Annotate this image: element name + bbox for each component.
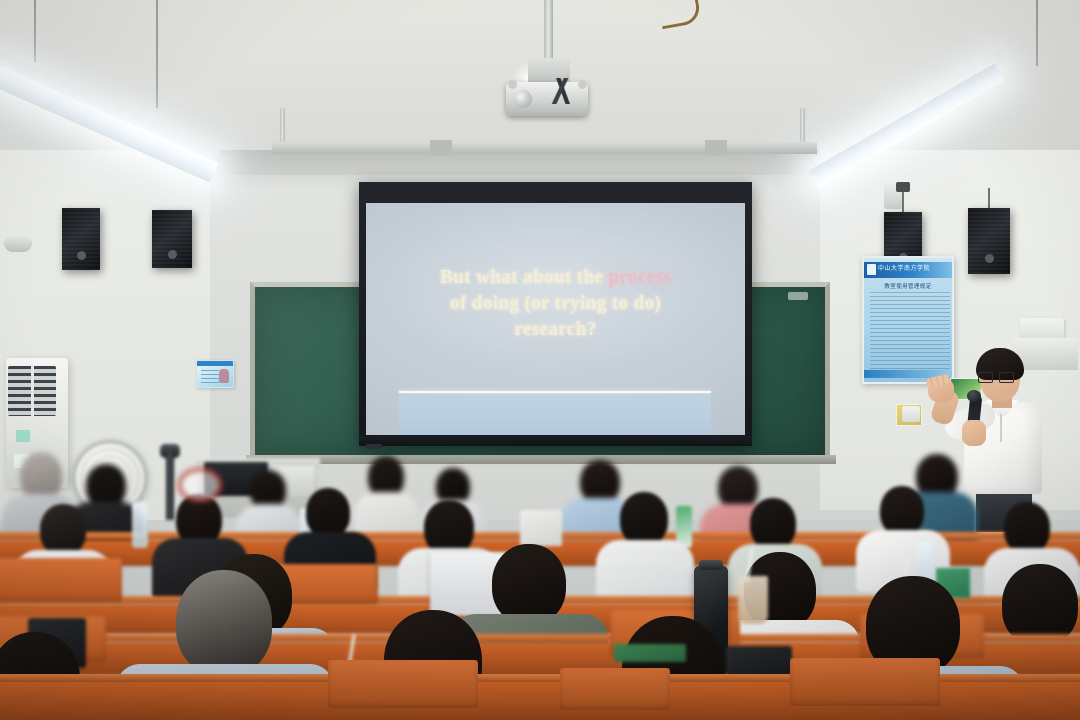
audience-seating-area (0, 446, 1080, 720)
notice-board-header-text: 中山大学南方学院 (878, 263, 930, 272)
projection-screen-surface: But what about the process of doing (or … (366, 203, 745, 435)
attendee-head (1004, 502, 1050, 554)
slide-highlight-word: process (608, 267, 671, 288)
chalk-residue (788, 292, 808, 300)
projector-knob (578, 80, 587, 89)
ac-vent-divider (31, 366, 34, 416)
slide-line2: of doing (or trying to do) (450, 293, 661, 314)
screen-support-rod (280, 108, 285, 146)
microphone-head-icon (967, 390, 981, 402)
attendee-torso (596, 540, 694, 604)
water-bottle (132, 502, 148, 548)
screen-support-bar (272, 142, 817, 154)
chair-back (790, 658, 940, 706)
slide-accent-band (399, 395, 711, 435)
speaker-grill (62, 208, 100, 270)
light-hanger-rod (156, 0, 158, 108)
chair-back (328, 660, 478, 708)
university-emblem-icon (178, 468, 222, 502)
presenter-shirt-placket (1000, 414, 1002, 442)
attendee-head (20, 452, 62, 500)
attendee-head (492, 544, 566, 624)
lecture-hall-photo: But what about the process of doing (or … (0, 0, 1080, 720)
speaker-left-2-icon (152, 210, 192, 268)
light-hanger-rod (1036, 0, 1038, 66)
chair-back (560, 668, 670, 710)
slide-divider-rule (399, 391, 711, 393)
bubble-tea-cup (738, 576, 768, 624)
projector-knob (508, 80, 517, 89)
ac-label-sticker (16, 430, 30, 442)
attendee-head (750, 498, 796, 550)
screen-support-rod (800, 108, 805, 146)
chair-back (0, 558, 122, 602)
projector-lens-icon (514, 90, 532, 108)
speaker-wire (988, 188, 990, 210)
light-hanger-rod (34, 0, 36, 62)
wall-outlet-icon (902, 406, 920, 422)
id-card-text-lines (201, 370, 219, 384)
speaker-grill (968, 208, 1010, 274)
speaker-cone (168, 250, 177, 259)
green-desk-pad (614, 644, 686, 662)
notebook (520, 510, 562, 546)
university-logo-icon (867, 264, 876, 275)
speaker-left-1-icon (62, 208, 100, 270)
attendee-head (880, 486, 924, 536)
screen-bottom-bar (359, 436, 752, 446)
screen-bracket (430, 140, 452, 156)
notice-board-poster: 中山大学南方学院 教室使用管理规定 (862, 256, 954, 384)
wall-id-certificate (196, 360, 234, 388)
speaker-bracket (896, 182, 910, 192)
attendee-head (306, 488, 350, 538)
slide-text-block: But what about the process of doing (or … (374, 265, 737, 343)
attendee-head (620, 492, 668, 546)
notice-board-body-text (870, 292, 950, 374)
attendee-head (40, 504, 86, 556)
cctv-camera-icon (4, 236, 32, 252)
presenter-mic-hand (962, 420, 986, 446)
speaker-right-2-icon (968, 208, 1010, 274)
notice-board-title: 教室使用管理规定 (864, 282, 952, 290)
thermos-cap (699, 560, 723, 570)
id-card-header-strip (197, 361, 233, 366)
id-card-photo (219, 369, 229, 383)
slide-line3: research? (514, 319, 596, 340)
speaker-grill (152, 210, 192, 268)
glasses-icon (978, 372, 1014, 381)
screen-bracket (705, 140, 727, 156)
attendee-head (176, 570, 272, 676)
slide-line1-prefix: But what about the (440, 267, 609, 288)
